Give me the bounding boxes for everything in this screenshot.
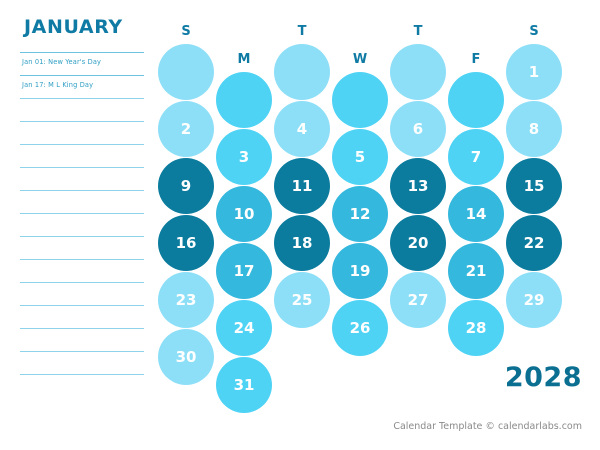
day-circle-26[interactable]: 26 (332, 300, 388, 356)
day-circle-27[interactable]: 27 (390, 272, 446, 328)
day-number: 4 (297, 120, 307, 138)
day-circle-empty (158, 44, 214, 100)
blank-note-row[interactable] (20, 98, 144, 121)
day-circle-5[interactable]: 5 (332, 129, 388, 185)
day-number: 12 (350, 205, 371, 223)
calendar-page: JANUARY Jan 01: New Year's DayJan 17: M … (0, 0, 600, 450)
day-circle-11[interactable]: 11 (274, 158, 330, 214)
day-circle-21[interactable]: 21 (448, 243, 504, 299)
weekday-header-friday: F (448, 52, 504, 67)
day-number: 13 (408, 177, 429, 195)
day-number: 24 (234, 319, 255, 337)
day-number: 5 (355, 148, 365, 166)
day-circle-1[interactable]: 1 (506, 44, 562, 100)
blank-note-row[interactable] (20, 328, 144, 351)
day-circle-31[interactable]: 31 (216, 357, 272, 413)
weekday-header-wednesday: W (332, 52, 388, 67)
day-number: 26 (350, 319, 371, 337)
year-label: 2028 (505, 362, 582, 393)
day-circle-19[interactable]: 19 (332, 243, 388, 299)
day-circle-23[interactable]: 23 (158, 272, 214, 328)
blank-note-row[interactable] (20, 282, 144, 305)
day-number: 20 (408, 234, 429, 252)
day-circle-16[interactable]: 16 (158, 215, 214, 271)
blank-note-row[interactable] (20, 144, 144, 167)
calendar-grid: SMTWTFS123456789101112131415161718192021… (158, 22, 600, 402)
day-circle-15[interactable]: 15 (506, 158, 562, 214)
blank-note-row[interactable] (20, 259, 144, 282)
day-number: 7 (471, 148, 481, 166)
blank-note-row[interactable] (20, 121, 144, 144)
day-number: 11 (292, 177, 313, 195)
day-number: 10 (234, 205, 255, 223)
day-number: 23 (176, 291, 197, 309)
day-number: 6 (413, 120, 423, 138)
day-number: 18 (292, 234, 313, 252)
page-title: JANUARY (24, 16, 123, 38)
day-circle-6[interactable]: 6 (390, 101, 446, 157)
blank-note-row[interactable] (20, 190, 144, 213)
weekday-header-monday: M (216, 52, 272, 67)
day-number: 22 (524, 234, 545, 252)
day-circle-10[interactable]: 10 (216, 186, 272, 242)
day-number: 16 (176, 234, 197, 252)
day-circle-25[interactable]: 25 (274, 272, 330, 328)
day-number: 9 (181, 177, 191, 195)
day-number: 8 (529, 120, 539, 138)
weekday-header-tuesday: T (274, 24, 330, 39)
day-number: 21 (466, 262, 487, 280)
blank-note-row[interactable] (20, 351, 144, 374)
day-number: 19 (350, 262, 371, 280)
holiday-note-row[interactable]: Jan 17: M L King Day (20, 75, 144, 98)
day-circle-18[interactable]: 18 (274, 215, 330, 271)
weekday-header-sunday: S (158, 24, 214, 39)
blank-note-row[interactable] (20, 374, 144, 397)
day-circle-17[interactable]: 17 (216, 243, 272, 299)
blank-note-row[interactable] (20, 305, 144, 328)
day-number: 27 (408, 291, 429, 309)
day-number: 29 (524, 291, 545, 309)
day-number: 31 (234, 376, 255, 394)
day-circle-2[interactable]: 2 (158, 101, 214, 157)
day-circle-8[interactable]: 8 (506, 101, 562, 157)
holiday-note-text: Jan 17: M L King Day (22, 81, 93, 89)
blank-note-row[interactable] (20, 167, 144, 190)
day-number: 15 (524, 177, 545, 195)
day-number: 25 (292, 291, 313, 309)
day-circle-12[interactable]: 12 (332, 186, 388, 242)
notes-line-list: Jan 01: New Year's DayJan 17: M L King D… (20, 52, 144, 397)
day-circle-9[interactable]: 9 (158, 158, 214, 214)
day-circle-empty (274, 44, 330, 100)
day-circle-29[interactable]: 29 (506, 272, 562, 328)
day-circle-7[interactable]: 7 (448, 129, 504, 185)
day-number: 3 (239, 148, 249, 166)
day-circle-3[interactable]: 3 (216, 129, 272, 185)
day-number: 30 (176, 348, 197, 366)
day-circle-empty (216, 72, 272, 128)
blank-note-row[interactable] (20, 213, 144, 236)
day-number: 1 (529, 63, 539, 81)
notes-panel: JANUARY Jan 01: New Year's DayJan 17: M … (0, 0, 160, 450)
footer-credit: Calendar Template © calendarlabs.com (393, 421, 582, 432)
day-circle-13[interactable]: 13 (390, 158, 446, 214)
day-circle-28[interactable]: 28 (448, 300, 504, 356)
day-circle-empty (390, 44, 446, 100)
day-circle-24[interactable]: 24 (216, 300, 272, 356)
day-circle-empty (332, 72, 388, 128)
day-number: 2 (181, 120, 191, 138)
day-circle-22[interactable]: 22 (506, 215, 562, 271)
day-number: 14 (466, 205, 487, 223)
day-circle-14[interactable]: 14 (448, 186, 504, 242)
day-circle-30[interactable]: 30 (158, 329, 214, 385)
day-circle-4[interactable]: 4 (274, 101, 330, 157)
weekday-header-thursday: T (390, 24, 446, 39)
day-number: 17 (234, 262, 255, 280)
holiday-note-text: Jan 01: New Year's Day (22, 58, 101, 66)
day-number: 28 (466, 319, 487, 337)
holiday-note-row[interactable]: Jan 01: New Year's Day (20, 52, 144, 75)
day-circle-empty (448, 72, 504, 128)
day-circle-20[interactable]: 20 (390, 215, 446, 271)
blank-note-row[interactable] (20, 236, 144, 259)
weekday-header-saturday: S (506, 24, 562, 39)
